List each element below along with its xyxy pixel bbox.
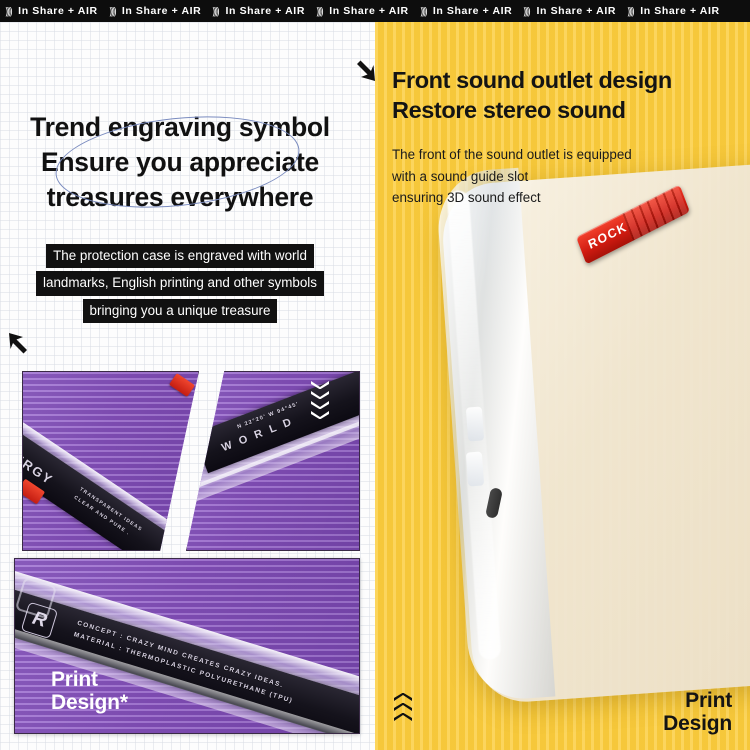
marquee-text: In Share + AIR xyxy=(18,5,104,17)
marquee-chevron-icon: )))) xyxy=(417,5,432,18)
marquee-item: ))))In Share + AIR xyxy=(311,5,415,18)
left-panel: Trend engraving symbol Ensure you apprec… xyxy=(0,22,375,750)
marquee-item: ))))In Share + AIR xyxy=(415,5,519,18)
marquee-chevron-icon: )))) xyxy=(209,5,224,18)
case-side-notch-top xyxy=(466,406,484,441)
marquee-item: ))))In Share + AIR xyxy=(518,5,622,18)
right-panel: ROCK Front sound outlet design Restore s… xyxy=(375,22,750,750)
marquee-item: ))))In Share + AIR xyxy=(104,5,208,18)
right-body-line2: with a sound guide slot xyxy=(392,166,722,188)
marquee-item: ))))In Share + AIR xyxy=(0,5,104,18)
left-body-line2: landmarks, English printing and other sy… xyxy=(36,271,324,295)
right-body-line3: ensuring 3D sound effect xyxy=(392,187,722,209)
marquee-text: In Share + AIR xyxy=(122,5,208,17)
left-headline: Trend engraving symbol Ensure you apprec… xyxy=(0,110,360,216)
left-headline-line1: Trend engraving symbol xyxy=(0,110,360,145)
marquee-text: In Share + AIR xyxy=(226,5,312,17)
marquee-text: In Share + AIR xyxy=(329,5,415,17)
marquee-item: ))))In Share + AIR xyxy=(622,5,726,18)
product-photo-engraving-energy: ROCK ENERGY TRANSPARENT IDEAS CLEAR AND … xyxy=(22,371,199,551)
print-design-label-right: Print Design xyxy=(663,689,732,736)
left-headline-line3: treasures everywhere xyxy=(0,180,360,215)
right-body-line1: The front of the sound outlet is equippe… xyxy=(392,144,722,166)
marquee-chevron-icon: )))) xyxy=(624,5,639,18)
top-marquee-banner: ))))In Share + AIR))))In Share + AIR))))… xyxy=(0,0,750,22)
marquee-item: ))))In Share + AIR xyxy=(207,5,311,18)
case-side-notch-mid xyxy=(466,451,484,486)
marquee-text: In Share + AIR xyxy=(433,5,519,17)
chevrons-up-icon xyxy=(393,693,413,722)
arrow-up-left-icon xyxy=(6,330,32,356)
marquee-chevron-icon: )))) xyxy=(313,5,328,18)
marquee-text: In Share + AIR xyxy=(537,5,623,17)
chevrons-down-icon xyxy=(310,380,330,419)
product-photo-engraving-world: N 22°20' W 94°45' W O R L D xyxy=(186,371,360,551)
print-label-line1: Print xyxy=(51,668,128,692)
print-design-label-left: Print Design* xyxy=(51,668,128,715)
marquee-chevron-icon: )))) xyxy=(520,5,535,18)
left-body-line3: bringing you a unique treasure xyxy=(83,299,278,323)
right-headline-line1: Front sound outlet design xyxy=(392,65,742,95)
product-photo-phone-case: ROCK xyxy=(375,22,750,750)
product-photo-engraving-material: R CONCEPT : CRAZY MIND CREATES CRAZY IDE… xyxy=(14,558,360,734)
left-headline-line2: Ensure you appreciate xyxy=(0,145,360,180)
print-label-line1: Print xyxy=(663,689,732,713)
product-infographic: ))))In Share + AIR))))In Share + AIR))))… xyxy=(0,0,750,750)
right-body-text: The front of the sound outlet is equippe… xyxy=(392,144,722,209)
marquee-text: In Share + AIR xyxy=(640,5,726,17)
print-label-line2: Design xyxy=(663,712,732,736)
marquee-chevron-icon: )))) xyxy=(2,5,17,18)
right-headline-line2: Restore stereo sound xyxy=(392,95,742,125)
arrow-down-right-icon xyxy=(352,58,378,84)
marquee-chevron-icon: )))) xyxy=(105,5,120,18)
right-headline: Front sound outlet design Restore stereo… xyxy=(392,65,742,125)
print-label-line2: Design* xyxy=(51,691,128,715)
left-body-text: The protection case is engraved with wor… xyxy=(0,244,360,326)
left-body-line1: The protection case is engraved with wor… xyxy=(46,244,314,268)
